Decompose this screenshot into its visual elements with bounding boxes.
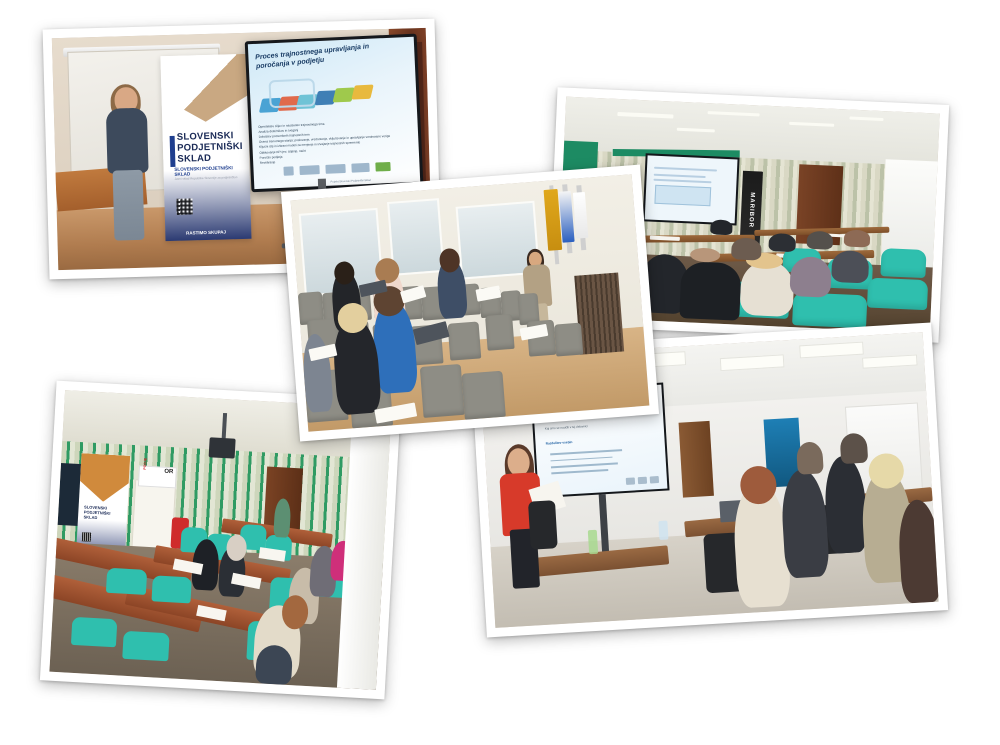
participant xyxy=(731,237,762,261)
display-screen: Proces trajnostnega upravljanja in poroč… xyxy=(245,34,424,192)
presenter xyxy=(102,87,155,241)
water-bottle xyxy=(587,530,597,555)
presenter-torso xyxy=(106,108,149,173)
banner-fine-print: Javni sklad Republike Slovenije za podje… xyxy=(175,174,246,180)
participant-head xyxy=(690,247,721,262)
photo-collage: MARIBOR xyxy=(0,0,1000,745)
banner-title: SLOVENSKI PODJETNIŠKI SKLAD xyxy=(83,505,125,522)
process-chain-diagram xyxy=(260,84,404,117)
or-sign-small-text: PODJE xyxy=(143,458,148,470)
qr-code-icon xyxy=(81,532,90,541)
slide-credit: Projekt Slovenski Podjetniški Sklad xyxy=(331,178,371,183)
slide-logo-strip xyxy=(625,476,659,485)
slide-subtitle: Kaj smo se naučili v tej delavnici xyxy=(545,425,588,432)
slide: Proces trajnostnega upravljanja in poroč… xyxy=(248,37,420,189)
participant xyxy=(844,230,871,247)
qr-code-icon xyxy=(176,198,192,214)
participant xyxy=(680,261,742,320)
participant xyxy=(789,256,832,298)
door xyxy=(679,420,715,497)
slide-title: Proces trajnostnega upravljanja in poroč… xyxy=(255,42,389,72)
photo-5-chair-rows[interactable] xyxy=(281,165,659,442)
or-sign-big-text: OR xyxy=(164,468,173,474)
presenter-legs xyxy=(113,169,145,240)
banner-footer: RASTIMO SKUPAJ xyxy=(174,229,226,235)
ceiling-projector xyxy=(209,438,236,459)
participant xyxy=(840,433,868,464)
participant xyxy=(710,220,733,235)
slide-section: Razdelitev vsebin xyxy=(546,440,573,446)
banner-title: SLOVENSKI PODJETNIŠKI SKLAD xyxy=(177,130,247,166)
banner-chevron xyxy=(161,54,249,123)
rollup-banner: SLOVENSKI PODJETNIŠKI SKLAD SLOVENSKI PO… xyxy=(161,54,252,242)
slide xyxy=(645,155,737,223)
banner-chevron xyxy=(79,453,131,503)
slide-bullets: Opredelitev ciljev in nastavitev trajnos… xyxy=(259,118,407,165)
banner-accent-bar xyxy=(170,136,175,168)
or-sign: OR PODJE xyxy=(138,465,177,489)
water-glass xyxy=(658,520,668,539)
participant xyxy=(769,233,796,252)
photo-5-image xyxy=(291,174,650,432)
